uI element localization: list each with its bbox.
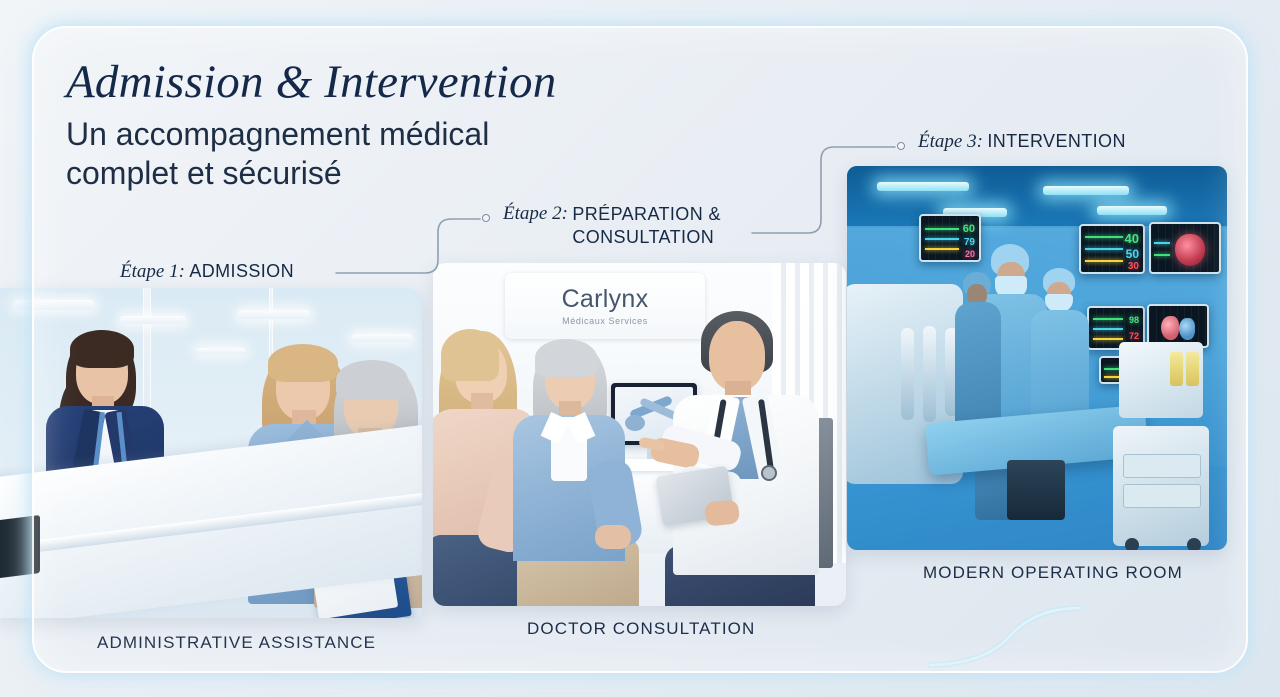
vital-value-2b: 50 — [1126, 248, 1139, 260]
doctor-tablet-hand — [704, 499, 740, 526]
headline-block: Admission & Intervention Un accompagneme… — [66, 56, 556, 193]
supply-cart-drawer-2 — [1123, 484, 1201, 508]
scene-consultation-room: Carlynx Médicaux Services — [433, 263, 846, 606]
clinic-sign-tagline: Médicaux Services — [505, 316, 705, 326]
vital-value-3b: 72 — [1129, 332, 1139, 341]
stethoscope-bell — [761, 465, 777, 481]
vitals-monitor-2: 40 50 30 — [1079, 224, 1145, 274]
heart-model-icon — [1175, 234, 1205, 266]
ceiling-light-strip-1 — [877, 182, 969, 191]
blonde-visitor-hair-top — [268, 344, 338, 382]
step-2-prefix: Étape 2: — [503, 203, 568, 224]
vital-value-2c: 30 — [1128, 262, 1139, 272]
page-title: Admission & Intervention — [66, 56, 556, 109]
patient-blonde-hair-front — [441, 329, 499, 381]
vital-value-1a: 60 — [963, 224, 975, 235]
step-2-name-line-2: CONSULTATION — [572, 227, 714, 247]
ceiling-light-strip-2 — [1043, 186, 1129, 195]
vitals-monitor-1: 60 79 20 — [919, 214, 981, 262]
ceiling-light-3 — [238, 310, 310, 319]
scene-reception-desk: Carlynx Medical Services — [0, 288, 422, 618]
ecg-trace-2b — [1085, 248, 1123, 250]
reception-monitor — [0, 515, 40, 579]
ceiling-light-2 — [120, 316, 186, 324]
heart-imaging-monitor — [1149, 222, 1221, 274]
panel-operating-room-image: 60 79 20 40 50 30 98 72 — [847, 166, 1227, 550]
ecg-trace-3b — [1154, 254, 1170, 256]
ecg-trace-4b — [1093, 328, 1123, 330]
caption-modern-operating-room: MODERN OPERATING ROOM — [923, 563, 1183, 583]
step-2-name-line-1: PRÉPARATION & — [572, 204, 721, 224]
step-label-admission: Étape 1: ADMISSION — [120, 261, 294, 283]
panel-consultation-image: Carlynx Médicaux Services — [433, 263, 846, 606]
step-2-connector-dot — [482, 214, 490, 222]
patient-elderly-hair-front — [535, 339, 597, 377]
robot-arm-1 — [901, 328, 914, 420]
organ-scan-right — [1179, 318, 1195, 340]
ecg-trace-4a — [1093, 318, 1123, 320]
cart-wheel-left — [1125, 538, 1139, 550]
page-subtitle-line-2: complet et sécurisé — [66, 154, 556, 193]
vital-value-1c: 20 — [965, 250, 975, 259]
vital-value-1b: 79 — [964, 238, 975, 248]
operating-table-base — [1007, 460, 1065, 520]
caption-doctor-consultation: DOCTOR CONSULTATION — [527, 619, 755, 639]
step-label-preparation: Étape 2: PRÉPARATION & CONSULTATION — [503, 203, 721, 249]
ecg-trace-1b — [925, 238, 959, 240]
ceiling-light-4 — [352, 334, 412, 342]
receptionist-hair-top — [70, 330, 134, 368]
page-subtitle-line-1: Un accompagnement médical — [66, 115, 556, 154]
step-3-connector-dot — [897, 142, 905, 150]
anesthesia-bottle-2 — [1186, 352, 1199, 386]
panel-admission-image: Carlynx Medical Services — [0, 288, 422, 618]
ceiling-light-strip-3 — [1097, 206, 1167, 215]
vital-value-2a: 40 — [1125, 232, 1139, 245]
robot-arm-2 — [923, 326, 936, 422]
ecg-trace-2c — [1085, 260, 1123, 262]
step-label-intervention: Étape 3: INTERVENTION — [918, 131, 1126, 153]
ceiling-light-1 — [14, 300, 94, 310]
ecg-trace-2a — [1085, 236, 1123, 238]
elderly-visitor-hair-top — [336, 360, 408, 400]
ecg-trace-4c — [1093, 338, 1123, 340]
cart-wheel-right — [1187, 538, 1201, 550]
step-1-prefix: Étape 1: — [120, 261, 185, 282]
step-1-name: ADMISSION — [189, 261, 294, 281]
supply-cart-drawer-1 — [1123, 454, 1201, 478]
step-3-name: INTERVENTION — [987, 131, 1125, 151]
anatomy-diagram-joint — [625, 415, 645, 431]
ecg-trace-1c — [925, 248, 959, 250]
step-2-name: PRÉPARATION & CONSULTATION — [572, 203, 721, 249]
anesthesia-bottle-1 — [1170, 352, 1183, 386]
step-3-prefix: Étape 3: — [918, 131, 983, 152]
ecg-trace-1a — [925, 228, 959, 230]
caption-administrative-assistance: ADMINISTRATIVE ASSISTANCE — [97, 633, 376, 653]
clinic-sign-brand: Carlynx — [505, 285, 705, 314]
patient-elderly-hand — [595, 525, 631, 549]
scene-operating-room: 60 79 20 40 50 30 98 72 — [847, 166, 1227, 550]
page-subtitle: Un accompagnement médical complet et séc… — [66, 115, 556, 193]
ceiling-light-5 — [196, 348, 246, 354]
ecg-trace-3a — [1154, 242, 1170, 244]
operating-room-ceiling — [847, 166, 1227, 228]
organ-scan-left — [1161, 316, 1179, 340]
vital-value-3a: 98 — [1129, 316, 1139, 325]
